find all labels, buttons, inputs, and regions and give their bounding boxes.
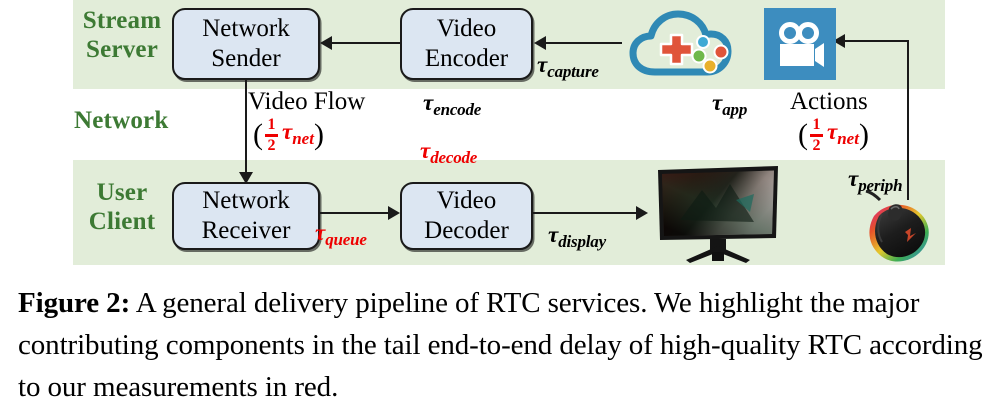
annotation-tau-capture: τcapture	[537, 52, 599, 82]
tau-symbol: τ	[827, 119, 837, 144]
arrow-sender-to-receiver-head	[239, 172, 253, 184]
annotation-tau-queue: τqueue	[315, 220, 367, 250]
monitor-icon	[650, 160, 786, 265]
tau-symbol: τ	[420, 138, 430, 163]
open-paren: (	[798, 118, 808, 152]
tau-subscript: net	[837, 130, 859, 149]
fraction-numerator: 1	[812, 117, 822, 133]
tau-subscript: display	[558, 232, 606, 251]
box-video-encoder: Video Encoder	[400, 8, 533, 80]
arrow-receiver-to-decoder-head	[388, 206, 400, 220]
tau-subscript: net	[292, 130, 314, 149]
tau-subscript: decode	[430, 148, 477, 167]
label-video-flow: Video Flow	[248, 88, 365, 116]
arrow-encoder-to-sender-head	[320, 36, 332, 50]
annotation-tau-encode: τencode	[423, 90, 481, 120]
gaming-mouse-icon	[858, 190, 940, 266]
arrow-mouse-to-camera-horizontal	[845, 40, 909, 42]
caption-label: Figure 2:	[18, 287, 130, 319]
tau-net: τnet	[827, 119, 859, 149]
tau-symbol: τ	[315, 220, 325, 245]
tau-symbol: τ	[848, 166, 858, 191]
tau-symbol: τ	[712, 90, 722, 115]
annotation-tau-display: τdisplay	[548, 222, 606, 252]
tau-subscript: app	[722, 100, 747, 119]
fraction-one-half: 1 2	[810, 117, 823, 154]
fraction-numerator: 1	[267, 117, 277, 133]
video-camera-icon	[764, 8, 836, 80]
fraction-denominator: 2	[267, 138, 277, 154]
zone-label-network: Network	[70, 106, 174, 135]
box-network-sender: Network Sender	[172, 8, 320, 80]
tau-net: τnet	[282, 119, 314, 149]
arrow-receiver-to-decoder-line	[320, 212, 390, 214]
box-video-decoder: Video Decoder	[400, 182, 533, 250]
figure-diagram: Stream Server Network User Client Networ…	[0, 0, 1003, 275]
annotation-tau-decode: τdecode	[420, 138, 477, 168]
arrow-decoder-to-monitor-head	[636, 206, 648, 220]
close-paren: )	[314, 118, 324, 152]
tau-subscript: queue	[325, 230, 367, 249]
tau-symbol: τ	[423, 90, 433, 115]
annotation-half-tau-net-uplink: ( 1 2 τnet )	[798, 116, 869, 153]
tau-symbol: τ	[548, 222, 558, 247]
caption-text: A general delivery pipeline of RTC servi…	[18, 287, 983, 403]
tau-symbol: τ	[537, 52, 547, 77]
annotation-half-tau-net-downlink: ( 1 2 τnet )	[253, 116, 324, 153]
tau-subscript: encode	[433, 100, 481, 119]
arrow-decoder-to-monitor-line	[533, 212, 638, 214]
tau-symbol: τ	[282, 119, 292, 144]
annotation-tau-app: τapp	[712, 90, 747, 120]
arrow-cloud-to-encoder-head	[534, 36, 546, 50]
arrow-cloud-to-encoder-line	[546, 42, 622, 44]
open-paren: (	[253, 118, 263, 152]
label-actions: Actions	[790, 88, 868, 116]
zone-label-stream-server: Stream Server	[70, 6, 174, 64]
arrow-encoder-to-sender-line	[332, 42, 400, 44]
fraction-denominator: 2	[812, 138, 822, 154]
arrow-mouse-to-camera-vertical	[907, 40, 909, 200]
figure-caption: Figure 2: A general delivery pipeline of…	[18, 282, 986, 408]
box-network-receiver: Network Receiver	[172, 182, 320, 250]
tau-subscript: capture	[547, 62, 598, 81]
fraction-one-half: 1 2	[265, 117, 278, 154]
zone-label-user-client: User Client	[70, 178, 174, 236]
close-paren: )	[859, 118, 869, 152]
cloud-gaming-icon	[627, 8, 733, 80]
